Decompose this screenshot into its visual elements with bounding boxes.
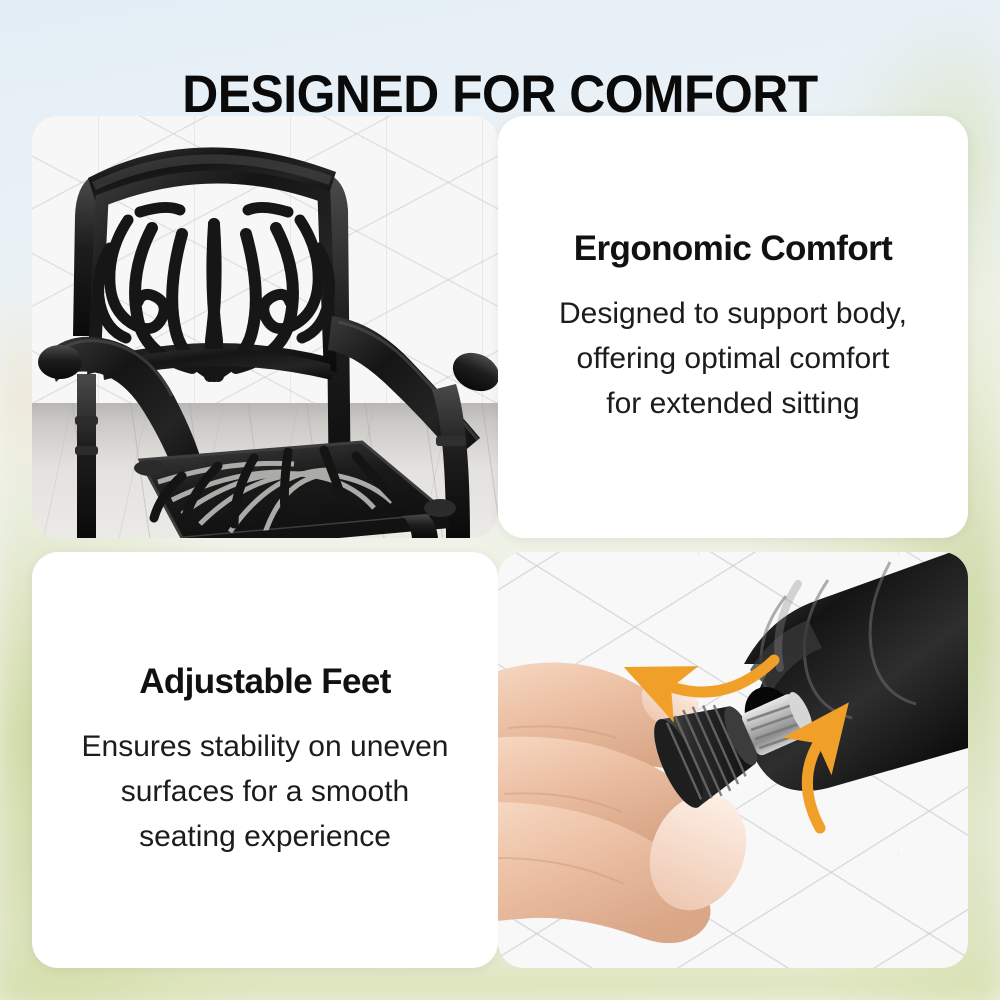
feature-body-line: seating experience [82, 814, 449, 859]
feature-body-line: offering optimal comfort [559, 336, 907, 381]
feature-body-line: Ensures stability on uneven [82, 724, 449, 769]
product-feature-infographic: DESIGNED FOR COMFORT [0, 0, 1000, 1000]
feature-title-adjustable-feet: Adjustable Feet [139, 662, 391, 702]
feature-body-line: for extended sitting [559, 381, 907, 426]
adjustable-foot-photo: Hand holding a ribbed black adjustable f… [498, 552, 968, 968]
feature-card-ergonomic-comfort: Ergonomic Comfort Designed to support bo… [498, 116, 968, 538]
patio-chair-photo: Black cast aluminum patio armchair with … [32, 116, 498, 538]
feature-body-adjustable-feet: Ensures stability on uneven surfaces for… [82, 724, 449, 859]
foot-adjustment-illustration [498, 552, 968, 968]
feature-title-ergonomic-comfort: Ergonomic Comfort [574, 229, 892, 269]
chair-illustration [32, 116, 498, 538]
feature-card-adjustable-feet: Adjustable Feet Ensures stability on une… [32, 552, 498, 968]
feature-body-line: Designed to support body, [559, 291, 907, 336]
feature-body-line: surfaces for a smooth [82, 769, 449, 814]
feature-body-ergonomic-comfort: Designed to support body, offering optim… [559, 291, 907, 426]
